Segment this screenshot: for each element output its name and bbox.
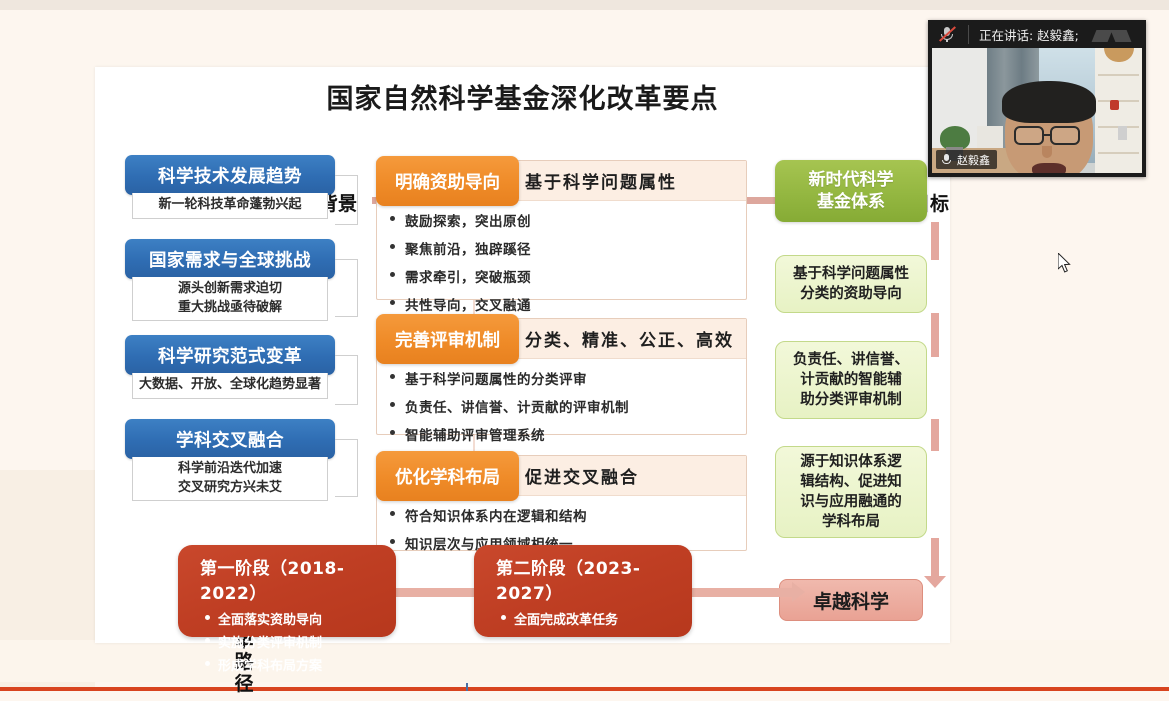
phase-card-1: 第二阶段（2023-2027） 全面完成改革任务 (474, 545, 692, 637)
ambient-bottom-band (0, 640, 1169, 682)
sub-line: 科学前沿迭代加速 (178, 460, 282, 478)
phase-bullets-0: 全面落实资助导向 实施分类评审机制 形成学科布局方案 (200, 609, 396, 674)
goal-line: 识与应用融通的 (800, 492, 902, 512)
task-bullet: 鼓励探索，突出原创 (405, 210, 746, 230)
phase-bullets-1: 全面完成改革任务 (496, 609, 692, 628)
microphone-icon (940, 153, 952, 166)
task-tab-1: 完善评审机制 (376, 314, 519, 364)
task-bullets-0: 鼓励探索，突出原创 聚焦前沿，独辟蹊径 需求牵引，突破瓶颈 共性导向，交叉融通 (377, 201, 746, 299)
goal-header: 新时代科学 基金体系 (775, 160, 927, 222)
goal-line: 源于知识体系逻 (800, 452, 902, 472)
mouse-cursor (1058, 253, 1072, 273)
phase-bullet: 全面完成改革任务 (514, 609, 692, 628)
shared-slide: 国家自然科学基金深化改革要点 背景 任务 目标 科学技术发展趋势 新一轮科技革命… (95, 67, 950, 643)
goal-line: 助分类评审机制 (800, 390, 902, 410)
goal-connector-0 (931, 222, 939, 260)
phase-bullet: 实施分类评审机制 (218, 632, 396, 651)
phase-bullet: 形成学科布局方案 (218, 655, 396, 674)
task-headline-2: 促进交叉融合 (525, 463, 639, 488)
video-feed: 赵毅鑫 (932, 48, 1142, 173)
goal-line: 辑结构、促进知 (800, 472, 902, 492)
network-signal-icon (1094, 28, 1134, 42)
goal-line: 分类的资助导向 (800, 284, 902, 304)
background-card-title-1: 国家需求与全球挑战 (125, 239, 335, 279)
goal-item-0: 基于科学问题属性 分类的资助导向 (775, 255, 927, 313)
goal-line: 学科布局 (822, 512, 880, 532)
background-card-sub-1: 源头创新需求迫切 重大挑战亟待破解 (132, 277, 328, 321)
active-speaker-label: 正在讲话: 赵毅鑫; (968, 25, 1079, 44)
task-headline-1: 分类、精准、公正、高效 (525, 326, 734, 351)
participant-name-chip: 赵毅鑫 (936, 150, 997, 169)
bottom-tick-mark (466, 683, 468, 691)
sub-line: 交叉研究方兴未艾 (178, 479, 282, 497)
video-tile-header: 正在讲话: 赵毅鑫; (928, 20, 1146, 48)
task-section-2: 促进交叉融合 优化学科布局 符合知识体系内在逻辑和结构 知识层次与应用领域相统一 (376, 455, 747, 551)
goal-connector-2 (931, 419, 939, 451)
slide-title: 国家自然科学基金深化改革要点 (95, 77, 950, 116)
task-bullet: 共性导向，交叉融通 (405, 294, 746, 314)
background-card-sub-0: 新一轮科技革命蓬勃兴起 (132, 193, 328, 219)
connector-bracket-2 (335, 355, 358, 405)
background-card-sub-3: 科学前沿迭代加速 交叉研究方兴未艾 (132, 457, 328, 501)
connector-bracket-3 (335, 439, 358, 497)
background-card-title-0: 科学技术发展趋势 (125, 155, 335, 195)
connector-bracket-0 (335, 175, 358, 225)
goal-line: 基于科学问题属性 (793, 264, 909, 284)
task-bullet: 需求牵引，突破瓶颈 (405, 266, 746, 286)
task-tab-2: 优化学科布局 (376, 451, 519, 501)
goal-header-line: 新时代科学 (809, 169, 894, 191)
bottom-edge (0, 691, 1169, 701)
screen: 国家自然科学基金深化改革要点 背景 任务 目标 科学技术发展趋势 新一轮科技革命… (0, 0, 1169, 701)
task-bullet: 智能辅助评审管理系统 (405, 424, 746, 444)
task-bullets-2: 符合知识体系内在逻辑和结构 知识层次与应用领域相统一 (377, 496, 746, 550)
sub-line: 大数据、开放、全球化趋势显著 (139, 376, 321, 394)
background-card-title-3: 学科交叉融合 (125, 419, 335, 459)
goal-line: 计贡献的智能辅 (800, 370, 902, 390)
goal-connector-3 (931, 538, 939, 577)
phase-title-0: 第一阶段（2018-2022） (200, 554, 396, 604)
ambient-top-band (0, 0, 1169, 10)
task-bullet: 负责任、讲信誉、计贡献的评审机制 (405, 396, 746, 416)
background-card-title-2: 科学研究范式变革 (125, 335, 335, 375)
phase-bullet: 全面落实资助导向 (218, 609, 396, 628)
sub-line: 新一轮科技革命蓬勃兴起 (158, 196, 301, 214)
background-card-0: 科学技术发展趋势 新一轮科技革命蓬勃兴起 (125, 155, 335, 217)
task-bullets-1: 基于科学问题属性的分类评审 负责任、讲信誉、计贡献的评审机制 智能辅助评审管理系… (377, 359, 746, 434)
participant-video-tile[interactable]: 正在讲话: 赵毅鑫; (928, 20, 1146, 177)
task-tab-0: 明确资助导向 (376, 156, 519, 206)
task-bullet: 聚焦前沿，独辟蹊径 (405, 238, 746, 258)
background-card-sub-2: 大数据、开放、全球化趋势显著 (132, 373, 328, 399)
goal-line: 负责任、讲信誉、 (793, 350, 909, 370)
task-section-0: 基于科学问题属性 明确资助导向 鼓励探索，突出原创 聚焦前沿，独辟蹊径 需求牵引… (376, 160, 747, 300)
goal-connector-1 (931, 313, 939, 357)
goal-header-line: 基金体系 (817, 191, 885, 213)
goal-item-1: 负责任、讲信誉、 计贡献的智能辅 助分类评审机制 (775, 341, 927, 419)
task-section-1: 分类、精准、公正、高效 完善评审机制 基于科学问题属性的分类评审 负责任、讲信誉… (376, 318, 747, 435)
microphone-muted-icon[interactable] (936, 24, 958, 44)
task-headline-0: 基于科学问题属性 (525, 168, 677, 193)
sub-line: 源头创新需求迫切 (178, 280, 282, 298)
participant-name: 赵毅鑫 (957, 152, 990, 168)
task-bullet: 符合知识体系内在逻辑和结构 (405, 505, 746, 525)
goal-item-2: 源于知识体系逻 辑结构、促进知 识与应用融通的 学科布局 (775, 446, 927, 538)
phase-title-1: 第二阶段（2023-2027） (496, 554, 692, 604)
phase-card-0: 第一阶段（2018-2022） 全面落实资助导向 实施分类评审机制 形成学科布局… (178, 545, 396, 637)
task-bullet: 基于科学问题属性的分类评审 (405, 368, 746, 388)
connector-bracket-1 (335, 259, 358, 317)
sub-line: 重大挑战亟待破解 (178, 299, 282, 317)
